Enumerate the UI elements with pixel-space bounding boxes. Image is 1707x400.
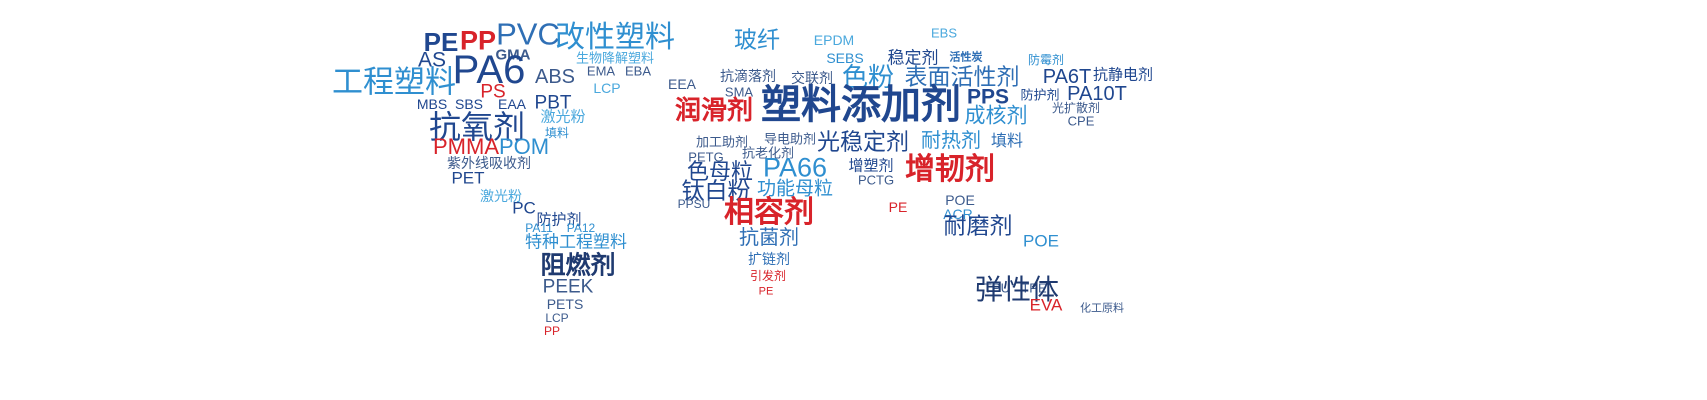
cloud-word[interactable]: PCTG	[858, 174, 894, 187]
cloud-word[interactable]: PETS	[547, 297, 584, 311]
cloud-word[interactable]: 耐磨剂	[944, 215, 1013, 238]
cloud-word[interactable]: 增塑剂	[848, 159, 893, 174]
cloud-word[interactable]: PA66	[763, 155, 827, 182]
cloud-word[interactable]: EBS	[931, 27, 957, 40]
cloud-word[interactable]: 增韧剂	[905, 155, 995, 185]
cloud-word[interactable]: 填料	[991, 134, 1023, 150]
cloud-word[interactable]: 化工原料	[1080, 304, 1124, 315]
cloud-word[interactable]: 抗滴落剂	[720, 69, 776, 83]
cloud-word[interactable]: 防霉剂	[1028, 54, 1064, 66]
cloud-word[interactable]: LCP	[593, 81, 620, 95]
cloud-word[interactable]: 防护剂	[1020, 89, 1059, 102]
cloud-word[interactable]: POE	[945, 193, 975, 207]
cloud-word[interactable]: 抗静电剂	[1093, 68, 1153, 83]
cloud-word[interactable]: PP	[544, 325, 560, 337]
cloud-word[interactable]: 相容剂	[724, 198, 814, 228]
cloud-word[interactable]: EBA	[625, 65, 651, 78]
cloud-word[interactable]: 玻纤	[734, 29, 780, 52]
cloud-word[interactable]: EPDM	[814, 33, 854, 47]
cloud-word[interactable]: 改性塑料	[555, 23, 675, 53]
cloud-word[interactable]: 扩链剂	[748, 252, 790, 266]
cloud-word[interactable]: EMA	[587, 65, 615, 78]
cloud-word[interactable]: 光稳定剂	[817, 131, 909, 154]
cloud-word[interactable]: 光扩散剂	[1052, 102, 1100, 114]
cloud-word[interactable]: 润滑剂	[675, 97, 753, 123]
cloud-word[interactable]: 工程塑料	[332, 67, 456, 98]
cloud-word[interactable]: EEA	[668, 77, 696, 91]
cloud-word[interactable]: PET	[451, 170, 484, 187]
cloud-word[interactable]: LCP	[545, 312, 568, 324]
cloud-word[interactable]: 加工助剂	[696, 136, 748, 149]
wordcloud-canvas: PEPPPVCGMA改性塑料生物降解塑料EMAEBALCPEEAASPA6ABS…	[0, 0, 1707, 400]
cloud-word[interactable]: ABS	[535, 67, 575, 87]
cloud-word[interactable]: 活性炭	[950, 53, 983, 64]
cloud-word[interactable]: PE	[889, 200, 908, 214]
cloud-word[interactable]: EVA	[1030, 297, 1063, 314]
cloud-word[interactable]: PC	[512, 200, 536, 217]
cloud-word[interactable]: 导电助剂	[764, 133, 816, 146]
cloud-word[interactable]: 塑料添加剂	[761, 85, 961, 125]
cloud-word[interactable]: 引发剂	[750, 270, 786, 282]
cloud-word[interactable]: PPSU	[678, 198, 711, 210]
cloud-word[interactable]: POE	[1023, 233, 1059, 250]
cloud-word[interactable]: 抗菌剂	[739, 228, 799, 248]
cloud-word[interactable]: 激光粉	[540, 110, 585, 125]
cloud-word[interactable]: PEEK	[543, 278, 594, 297]
cloud-word[interactable]: CPE	[1068, 115, 1095, 128]
cloud-word[interactable]: PE	[759, 287, 774, 298]
cloud-word[interactable]: 成核剂	[965, 106, 1028, 127]
cloud-word[interactable]: PVC	[496, 19, 560, 50]
cloud-word[interactable]: 特种工程塑料	[525, 234, 627, 251]
cloud-word[interactable]: 阻燃剂	[540, 254, 615, 279]
cloud-word[interactable]: 耐热剂	[921, 131, 981, 151]
